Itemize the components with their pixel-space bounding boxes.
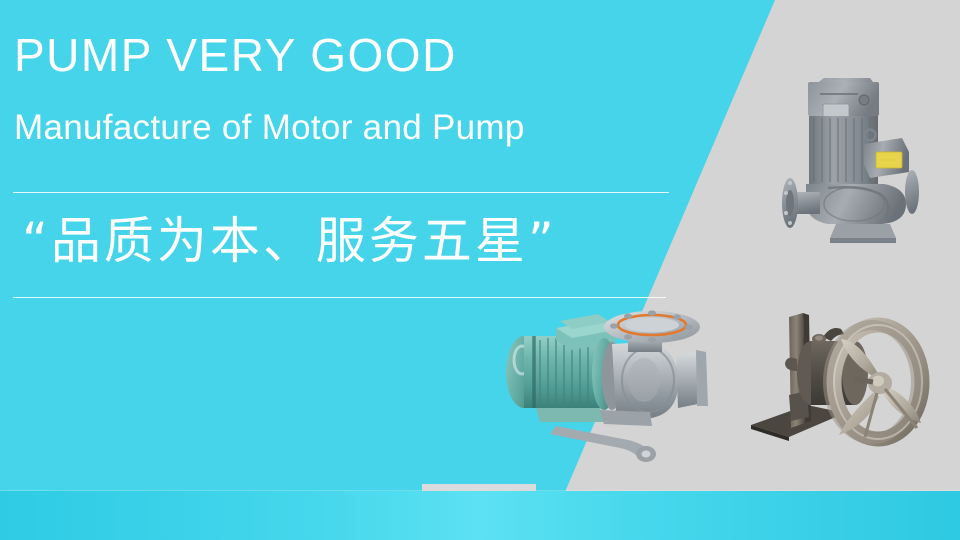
terminal-label-plate <box>876 152 902 168</box>
bottom-cyan-band <box>0 491 960 540</box>
outlet-flange <box>676 352 698 408</box>
product-image-inline-pump <box>766 52 956 252</box>
divider-top <box>13 192 669 193</box>
page-title: PUMP VERY GOOD <box>14 28 457 82</box>
accent-bar <box>422 484 536 491</box>
product-image-centrifugal-pump <box>500 300 735 475</box>
base-plate <box>830 224 896 238</box>
divider-bottom <box>13 297 666 298</box>
page-subtitle: Manufacture of Motor and Pump <box>14 107 525 148</box>
nameplate <box>823 104 849 117</box>
support-bracket <box>550 426 650 460</box>
cable-gland <box>785 358 797 371</box>
pump-feet <box>600 410 652 426</box>
slogan-text: “品质为本、服务五星” <box>22 204 557 279</box>
discharge-flange <box>905 170 919 214</box>
banner-root: PUMP VERY GOOD Manufacture of Motor and … <box>0 0 960 540</box>
product-image-submersible-mixer <box>745 295 955 465</box>
pump-casing <box>806 184 906 224</box>
motor-feet <box>536 408 604 422</box>
